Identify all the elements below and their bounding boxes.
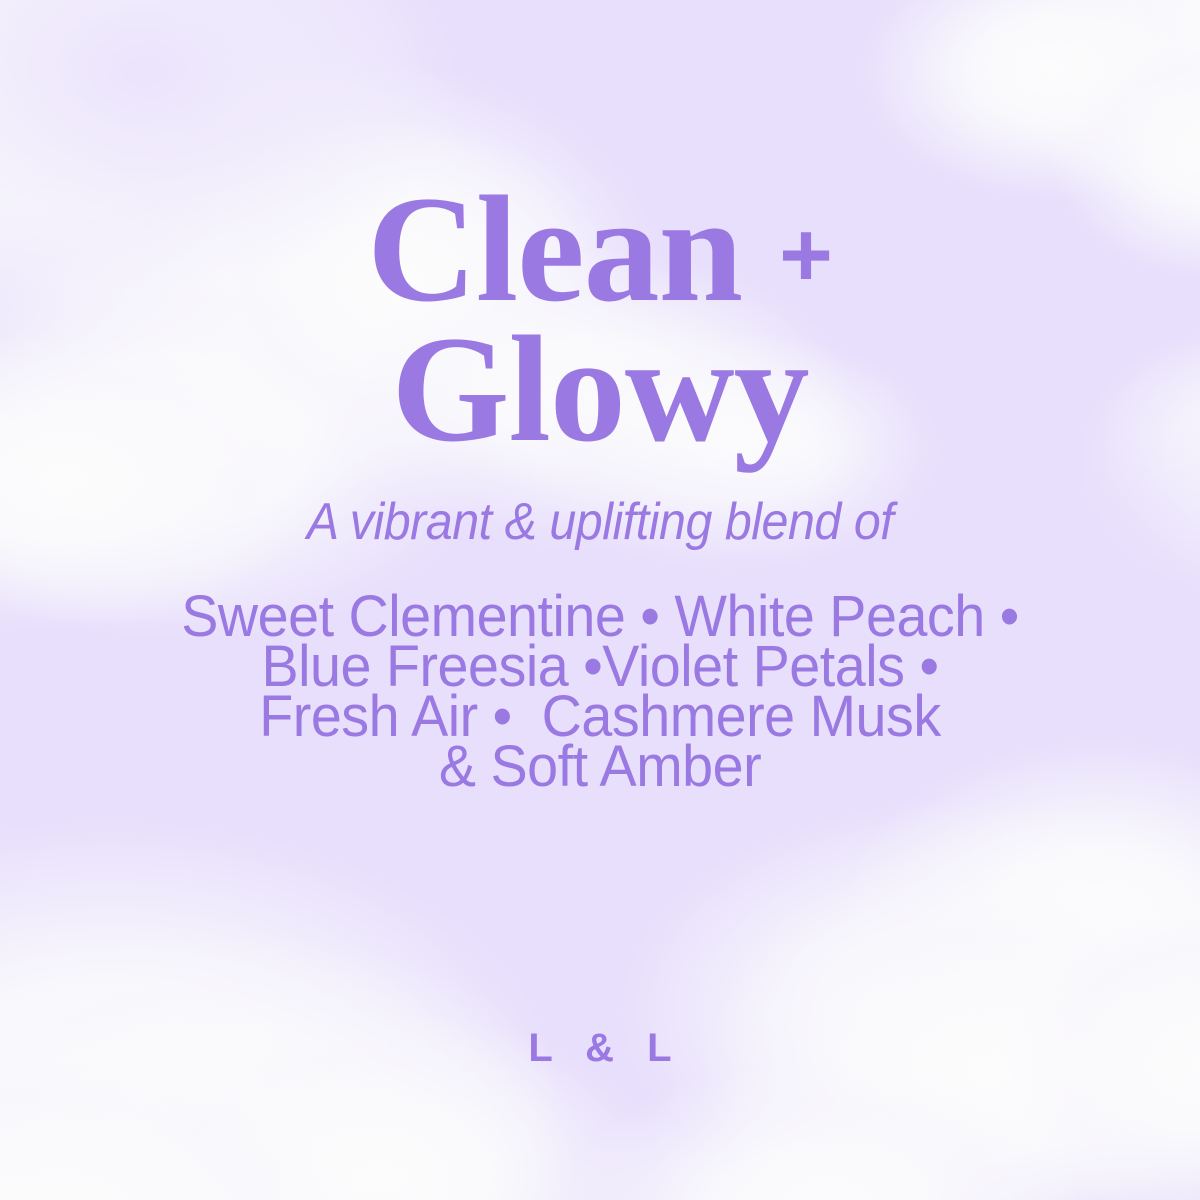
scent-description-card: Clean +Glowy A vibrant & uplifting blend… [0, 0, 1200, 1200]
scent-subtitle: A vibrant & uplifting blend of [42, 494, 1158, 551]
scent-title: Clean +Glowy [0, 180, 1200, 460]
card-content: Clean +Glowy A vibrant & uplifting blend… [0, 0, 1200, 1200]
scent-notes-line: & Soft Amber [24, 742, 1176, 792]
brand-logo: L & L [0, 1026, 1200, 1071]
title-line-2: Glowy [391, 305, 808, 473]
plus-symbol: + [779, 204, 833, 306]
scent-notes-list: Sweet Clementine • White Peach • Blue Fr… [24, 592, 1176, 792]
